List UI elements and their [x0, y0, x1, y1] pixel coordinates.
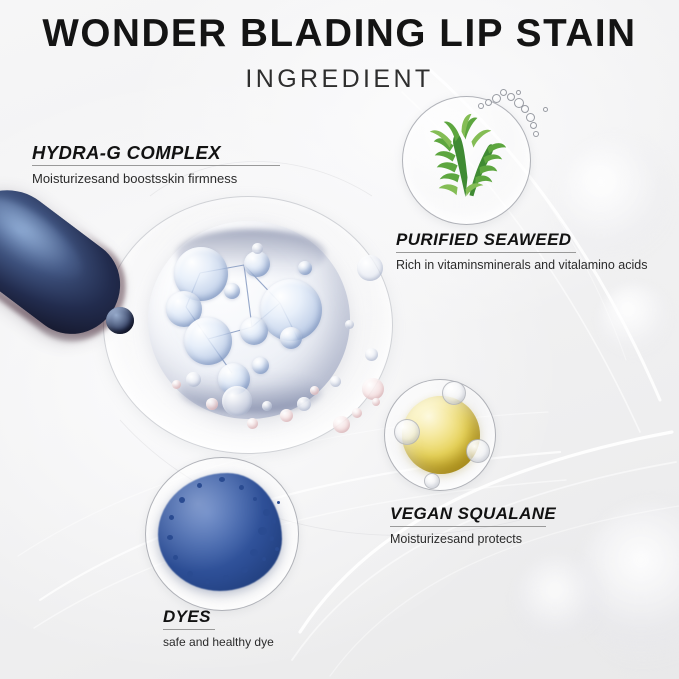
powder-grain: [173, 555, 178, 560]
rose-droplet: [247, 418, 258, 429]
background-blur-circle: [578, 503, 679, 671]
rose-droplet: [333, 416, 350, 433]
floating-bubble: [262, 401, 272, 411]
medallion-bubble: [442, 381, 466, 405]
dyes-medallion: [145, 457, 299, 611]
page-title: WONDER BLADING LIP STAIN: [3, 0, 675, 53]
powder-grain: [258, 527, 267, 535]
chain-bubble: [521, 105, 529, 113]
powder-grain: [223, 575, 229, 580]
molecule-bubble: [184, 317, 232, 365]
rose-droplet: [372, 398, 380, 406]
rose-droplet: [352, 408, 362, 418]
rose-droplet: [280, 409, 293, 422]
ingredient-name: VEGAN SQUALANE: [390, 504, 556, 524]
rose-droplet: [206, 398, 218, 410]
powder-grain: [263, 509, 270, 516]
chain-bubble: [514, 98, 524, 108]
medallion-bubble: [466, 439, 490, 463]
chain-bubble: [530, 122, 537, 129]
ingredient-label-hydra-g-complex: HYDRA-G COMPLEX Moisturizesand boostsski…: [32, 142, 280, 187]
powder-grain: [269, 536, 274, 541]
powder-grain: [239, 485, 244, 490]
powder-grain: [250, 549, 258, 556]
ingredient-description: Moisturizesand protects: [390, 532, 556, 547]
page-subtitle: INGREDIENT: [0, 67, 679, 92]
molecule-bubble: [244, 251, 270, 277]
ingredient-description: Rich in vitaminsminerals and vitalamino …: [396, 258, 648, 273]
poster-header: WONDER BLADING LIP STAIN INGREDIENT: [0, 0, 679, 92]
ingredient-label-purified-seaweed: PURIFIED SEAWEED Rich in vitaminsmineral…: [396, 230, 648, 273]
floating-bubble: [345, 320, 354, 329]
powder-grain: [187, 571, 193, 577]
powder-grain: [253, 497, 257, 501]
chain-bubble: [526, 113, 535, 122]
powder-grain: [219, 477, 225, 482]
molecule-bubble-cluster: [148, 221, 350, 419]
seaweed-icon: [408, 102, 525, 219]
powder-grain: [205, 579, 210, 584]
brush-tip-droplet: [106, 307, 134, 334]
floating-bubble: [365, 348, 378, 361]
ingredient-name: DYES: [163, 607, 274, 627]
label-underline: [163, 629, 215, 630]
molecule-bubble: [240, 317, 268, 345]
powder-grain: [179, 497, 185, 503]
powder-grain: [262, 557, 266, 561]
floating-bubble: [357, 255, 383, 281]
chain-bubble: [507, 93, 515, 101]
squalane-medallion: [384, 379, 496, 491]
medallion-bubble: [394, 419, 420, 445]
powder-grain: [169, 515, 174, 520]
seaweed-medallion: [402, 96, 531, 225]
powder-grain: [271, 519, 276, 524]
ingredient-name: HYDRA-G COMPLEX: [32, 142, 280, 163]
ingredient-poster: WONDER BLADING LIP STAIN INGREDIENT: [0, 0, 679, 679]
ingredient-label-vegan-squalane: VEGAN SQUALANE Moisturizesand protects: [390, 504, 556, 547]
label-underline: [32, 165, 280, 166]
medallion-bubble: [424, 473, 440, 489]
chain-bubble: [533, 131, 539, 137]
rose-droplet: [362, 378, 384, 400]
powder-grain: [167, 535, 173, 540]
rose-droplet: [310, 386, 319, 395]
ingredient-name: PURIFIED SEAWEED: [396, 230, 648, 250]
floating-bubble: [222, 386, 252, 416]
floating-bubble: [252, 243, 263, 254]
rose-droplet: [172, 380, 181, 389]
ingredient-description: safe and healthy dye: [163, 635, 274, 649]
powder-grain: [197, 483, 202, 488]
label-underline: [396, 252, 576, 253]
background-blur-circle: [600, 285, 670, 355]
powder-grain: [277, 501, 280, 504]
ingredient-description: Moisturizesand boostsskin firmness: [32, 171, 280, 187]
molecule-bubble: [224, 283, 240, 299]
floating-bubble: [297, 397, 311, 411]
background-blur-circle: [516, 556, 602, 642]
chain-bubble: [543, 107, 548, 112]
molecule-bubble: [298, 261, 312, 275]
molecule-bubble: [252, 357, 269, 374]
floating-bubble: [186, 372, 201, 387]
ingredient-label-dyes: DYES safe and healthy dye: [163, 607, 274, 649]
label-underline: [390, 526, 546, 527]
floating-bubble: [330, 376, 341, 387]
molecule-bubble: [280, 327, 302, 349]
powder-grain: [241, 567, 248, 573]
brush-applicator: [0, 171, 156, 367]
powder-grain: [275, 547, 279, 551]
